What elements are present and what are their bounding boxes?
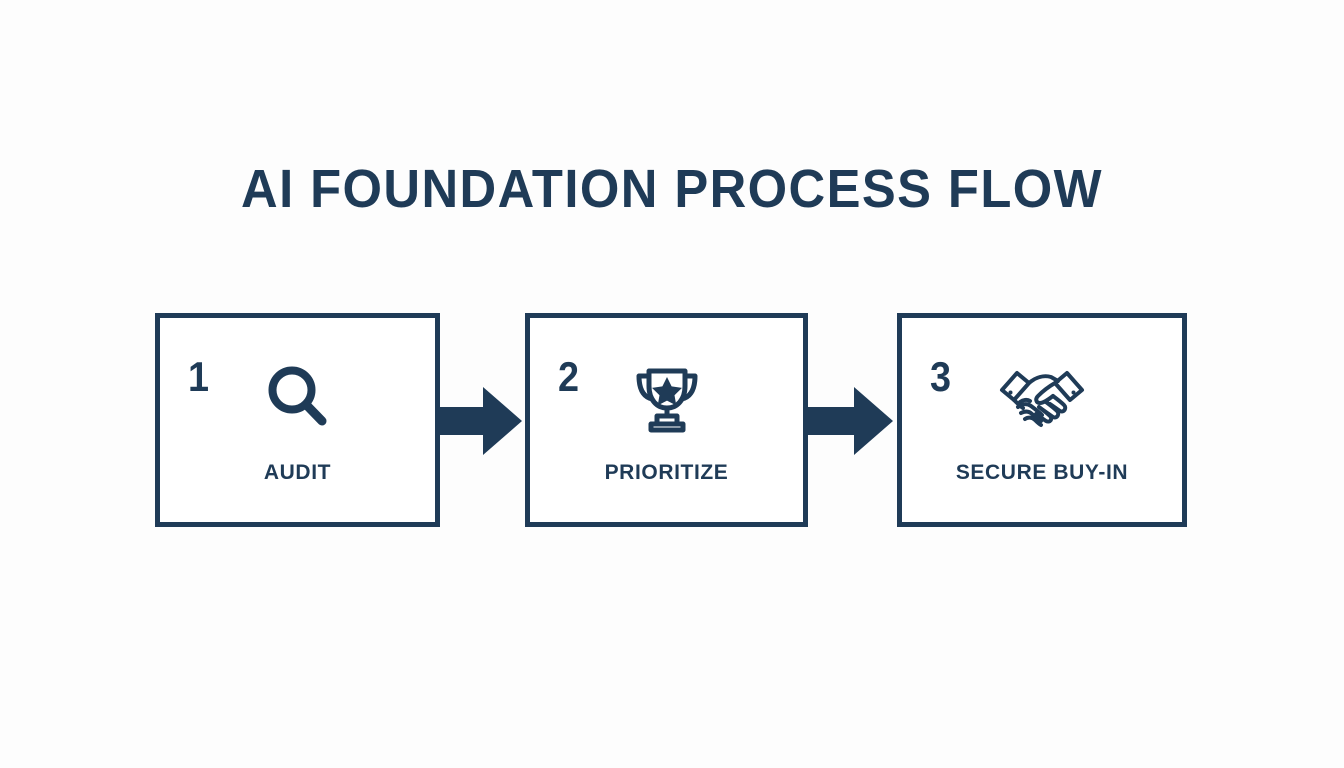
step-card-prioritize[interactable]: 2 — [525, 313, 808, 527]
trophy-icon — [619, 350, 715, 446]
step-label: AUDIT — [160, 461, 435, 485]
arrow-right-icon — [437, 385, 522, 457]
handshake-icon — [994, 350, 1090, 446]
page-title: AI FOUNDATION PROCESS FLOW — [40, 160, 1303, 218]
step-label: PRIORITIZE — [530, 461, 803, 485]
step-card-audit[interactable]: 1 AUDIT — [155, 313, 440, 527]
slide-canvas: AI FOUNDATION PROCESS FLOW 1 AUDIT 2 — [0, 0, 1344, 768]
process-flow-row: 1 AUDIT 2 — [155, 313, 1187, 527]
magnifying-glass-icon — [250, 350, 346, 446]
step-number: 3 — [930, 356, 951, 398]
step-label: SECURE BUY-IN — [902, 461, 1182, 485]
step-number: 2 — [558, 356, 579, 398]
arrow-right-icon — [808, 385, 893, 457]
step-number: 1 — [188, 356, 209, 398]
step-card-secure-buy-in[interactable]: 3 — [897, 313, 1187, 527]
